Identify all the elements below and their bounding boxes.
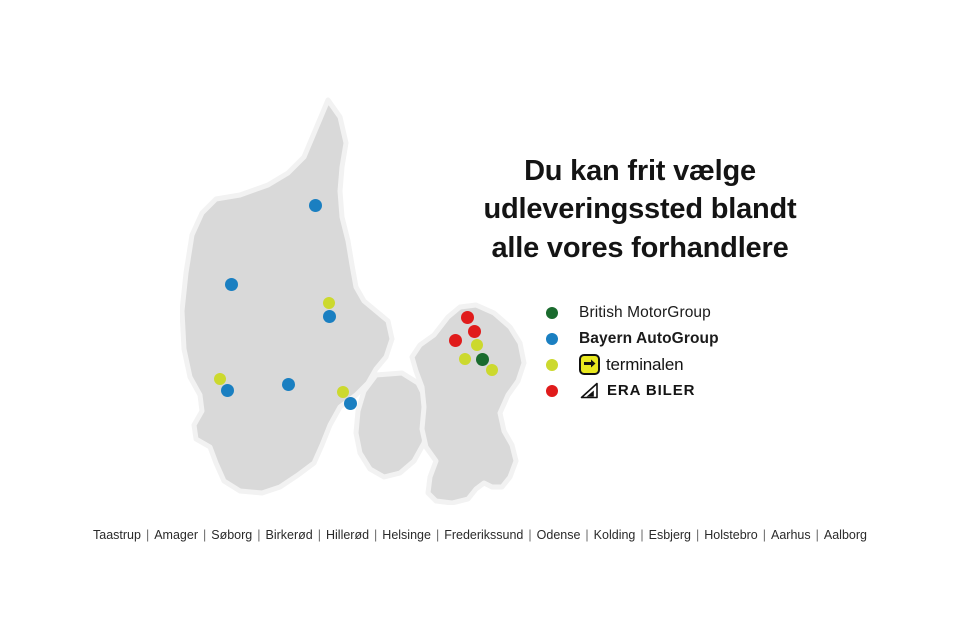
map-dot-birkerod[interactable] (468, 325, 481, 338)
city-holstebro: Holstebro (703, 528, 759, 542)
city-amager: Amager (153, 528, 199, 542)
city-separator: | (812, 528, 823, 542)
city-separator: | (636, 528, 647, 542)
city-birkerød: Birkerød (265, 528, 314, 542)
city-separator: | (432, 528, 443, 542)
legend-label-bayern-autogroup: Bayern AutoGroup (579, 330, 719, 348)
city-esbjerg: Esbjerg (648, 528, 692, 542)
city-separator: | (142, 528, 153, 542)
city-frederikssund: Frederikssund (443, 528, 524, 542)
era-biler-wordmark: ERA BILER (607, 382, 695, 399)
map-dot-esbjerg[interactable] (221, 384, 234, 397)
city-odense: Odense (536, 528, 582, 542)
city-aalborg: Aalborg (823, 528, 868, 542)
map-dot-odense[interactable] (344, 397, 357, 410)
map-dot-frederikssund[interactable] (449, 334, 462, 347)
headline-line-2: udleveringssted blandt (470, 190, 810, 228)
legend-swatch-yellow (546, 359, 558, 371)
map-dot-soborg[interactable] (471, 339, 483, 351)
city-separator: | (581, 528, 592, 542)
city-separator: | (199, 528, 210, 542)
city-separator: | (253, 528, 264, 542)
city-separator: | (314, 528, 325, 542)
era-biler-logo-icon (579, 382, 601, 400)
terminalen-logo-icon (579, 354, 600, 375)
era-biler-brand: ERA BILER (579, 382, 695, 400)
dealer-legend: British MotorGroup Bayern AutoGroup term… (546, 300, 846, 404)
legend-item-era-biler[interactable]: ERA BILER (546, 378, 846, 403)
map-dot-kolding[interactable] (282, 378, 295, 391)
city-kolding: Kolding (593, 528, 637, 542)
map-dot-aarhus[interactable] (323, 310, 336, 323)
promo-graphic: Du kan frit vælge udleveringssted blandt… (0, 0, 960, 640)
city-separator: | (692, 528, 703, 542)
city-helsinge: Helsinge (381, 528, 432, 542)
headline-line-3: alle vores forhandlere (470, 229, 810, 267)
legend-item-bayern-autogroup[interactable]: Bayern AutoGroup (546, 326, 846, 351)
legend-label-british-motorgroup: British MotorGroup (579, 304, 711, 322)
map-dot-odense-t[interactable] (337, 386, 349, 398)
city-list: Taastrup|Amager|Søborg|Birkerød|Hillerød… (0, 528, 960, 542)
headline-line-1: Du kan frit vælge (470, 152, 810, 190)
map-dot-amager[interactable] (486, 364, 498, 376)
city-separator: | (524, 528, 535, 542)
terminalen-brand: terminalen (579, 354, 683, 375)
legend-swatch-green (546, 307, 558, 319)
map-dot-taastrup[interactable] (459, 353, 471, 365)
legend-item-terminalen[interactable]: terminalen (546, 352, 846, 377)
map-region-funen (356, 373, 428, 477)
legend-swatch-blue (546, 333, 558, 345)
city-separator: | (759, 528, 770, 542)
city-taastrup: Taastrup (92, 528, 142, 542)
city-aarhus: Aarhus (770, 528, 812, 542)
map-dot-aarhus-t[interactable] (323, 297, 335, 309)
map-dot-amager-bmg[interactable] (476, 353, 489, 366)
page-title: Du kan frit vælge udleveringssted blandt… (470, 152, 810, 267)
map-dot-holstebro[interactable] (225, 278, 238, 291)
map-dot-hillerod[interactable] (461, 311, 474, 324)
city-separator: | (370, 528, 381, 542)
legend-swatch-red (546, 385, 558, 397)
map-dot-aalborg[interactable] (309, 199, 322, 212)
city-søborg: Søborg (210, 528, 253, 542)
map-dot-esbjerg-t[interactable] (214, 373, 226, 385)
terminalen-wordmark: terminalen (606, 355, 683, 375)
legend-item-british-motorgroup[interactable]: British MotorGroup (546, 300, 846, 325)
city-hillerød: Hillerød (325, 528, 370, 542)
